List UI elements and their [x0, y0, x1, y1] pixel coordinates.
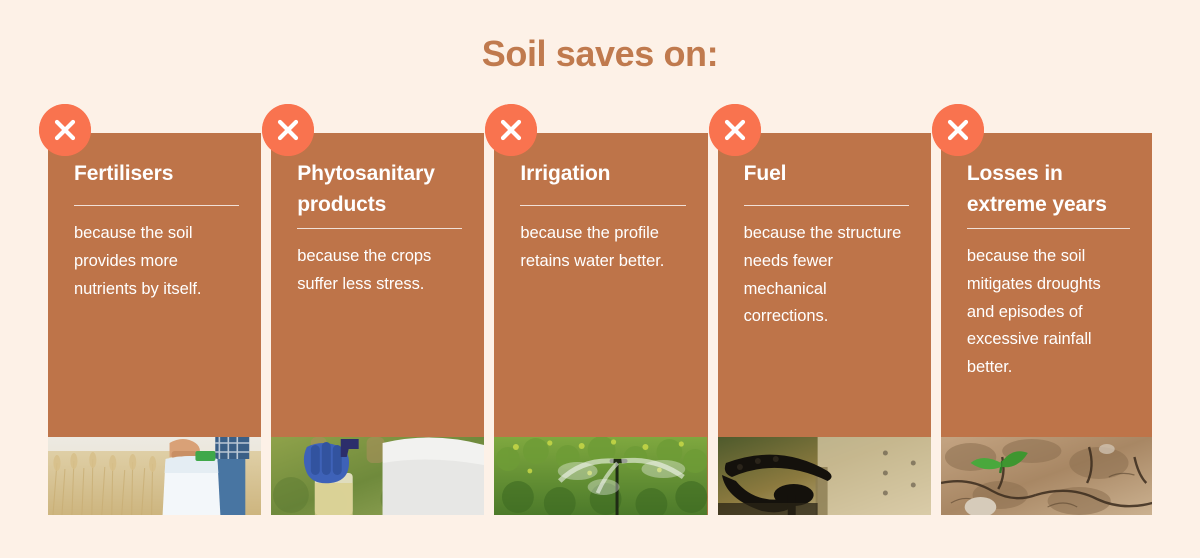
cross-icon: [709, 104, 761, 156]
infographic-root: Soil saves on: Fertilisers because the s…: [0, 0, 1200, 558]
benefit-card-losses-extreme-years[interactable]: Losses in extreme years because the soil…: [941, 133, 1152, 515]
card-divider: [520, 205, 685, 206]
photo-wheat-field-jug: [48, 437, 261, 515]
cross-icon: [39, 104, 91, 156]
photo-gloved-hand-sprayer: [271, 437, 484, 515]
card-description: because the crops suffer less stress.: [297, 243, 462, 298]
card-title: Losses in extreme years: [967, 158, 1130, 220]
card-description: because the structure needs fewer mechan…: [744, 220, 909, 331]
card-divider: [297, 228, 462, 229]
card-title: Fuel: [744, 158, 909, 189]
card-title: Phytosanitary products: [297, 158, 462, 220]
cross-icon: [262, 104, 314, 156]
card-title: Fertilisers: [74, 158, 239, 189]
photo-seedling-cracked-soil: [941, 437, 1152, 515]
card-body: Losses in extreme years because the soil…: [941, 133, 1152, 437]
benefit-card-phytosanitary-products[interactable]: Phytosanitary products because the crops…: [271, 133, 484, 515]
photo-sprinkler-green-crop: [494, 437, 707, 515]
card-body: Phytosanitary products because the crops…: [271, 133, 484, 437]
cross-icon: [932, 104, 984, 156]
benefit-card-fertilisers[interactable]: Fertilisers because the soil provides mo…: [48, 133, 261, 515]
cross-icon: [485, 104, 537, 156]
card-body: Fertilisers because the soil provides mo…: [48, 133, 261, 437]
benefit-card-list: Fertilisers because the soil provides mo…: [48, 133, 1152, 515]
card-description: because the profile retains water better…: [520, 220, 685, 275]
card-body: Fuel because the structure needs fewer m…: [718, 133, 931, 437]
card-title: Irrigation: [520, 158, 685, 189]
card-divider: [744, 205, 909, 206]
benefit-card-irrigation[interactable]: Irrigation because the profile retains w…: [494, 133, 707, 515]
card-description: because the soil provides more nutrients…: [74, 220, 239, 303]
photo-tractor-steering-wheel: [718, 437, 931, 515]
benefit-card-fuel[interactable]: Fuel because the structure needs fewer m…: [718, 133, 931, 515]
card-divider: [967, 228, 1130, 229]
card-divider: [74, 205, 239, 206]
card-body: Irrigation because the profile retains w…: [494, 133, 707, 437]
page-title: Soil saves on:: [0, 33, 1200, 75]
card-description: because the soil mitigates droughts and …: [967, 243, 1130, 382]
